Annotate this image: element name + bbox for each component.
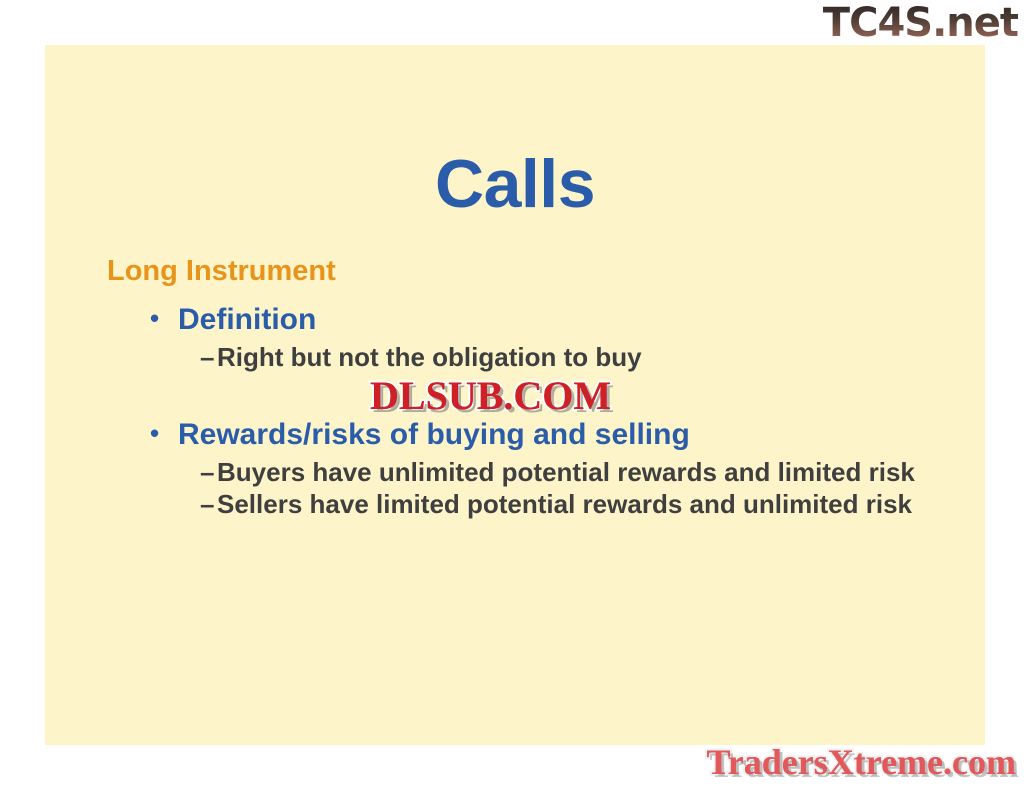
dash-icon: – xyxy=(200,489,217,519)
dlsub-watermark-fill: DLSUB.COM xyxy=(370,372,611,419)
outline-level3-buyers: – Buyers have unlimited potential reward… xyxy=(107,457,967,487)
outline-level3-label: Right but not the obligation to buy xyxy=(217,342,917,372)
dash-icon: – xyxy=(200,342,217,372)
outline-level2-rewards-risks: • Rewards/risks of buying and selling xyxy=(107,417,967,453)
dash-icon: – xyxy=(200,457,217,487)
bullet-icon: • xyxy=(150,302,178,335)
tradersxtreme-watermark-fill: TradersXtreme.com xyxy=(706,741,1016,783)
outline-level2-label: Definition xyxy=(178,302,316,338)
outline-level3-sellers: – Sellers have limited potential rewards… xyxy=(107,489,967,519)
outline-level2-definition: • Definition xyxy=(107,302,967,338)
tc4s-logo: TC4S.net xyxy=(823,2,1018,44)
outline-level3-right-to-buy: – Right but not the obligation to buy xyxy=(107,342,967,372)
page-title: Calls xyxy=(45,150,985,218)
outline-level2-label: Rewards/risks of buying and selling xyxy=(178,417,690,453)
dlsub-watermark: DLSUB.COM DLSUB.COM xyxy=(370,372,611,419)
outline-level1-long-instrument: Long Instrument xyxy=(107,255,967,288)
tradersxtreme-watermark: TradersXtreme.com TradersXtreme.com xyxy=(706,741,1016,783)
outline-level3-label: Buyers have unlimited potential rewards … xyxy=(217,457,917,487)
outline-level3-label: Sellers have limited potential rewards a… xyxy=(217,489,917,519)
bullet-icon: • xyxy=(150,417,178,450)
